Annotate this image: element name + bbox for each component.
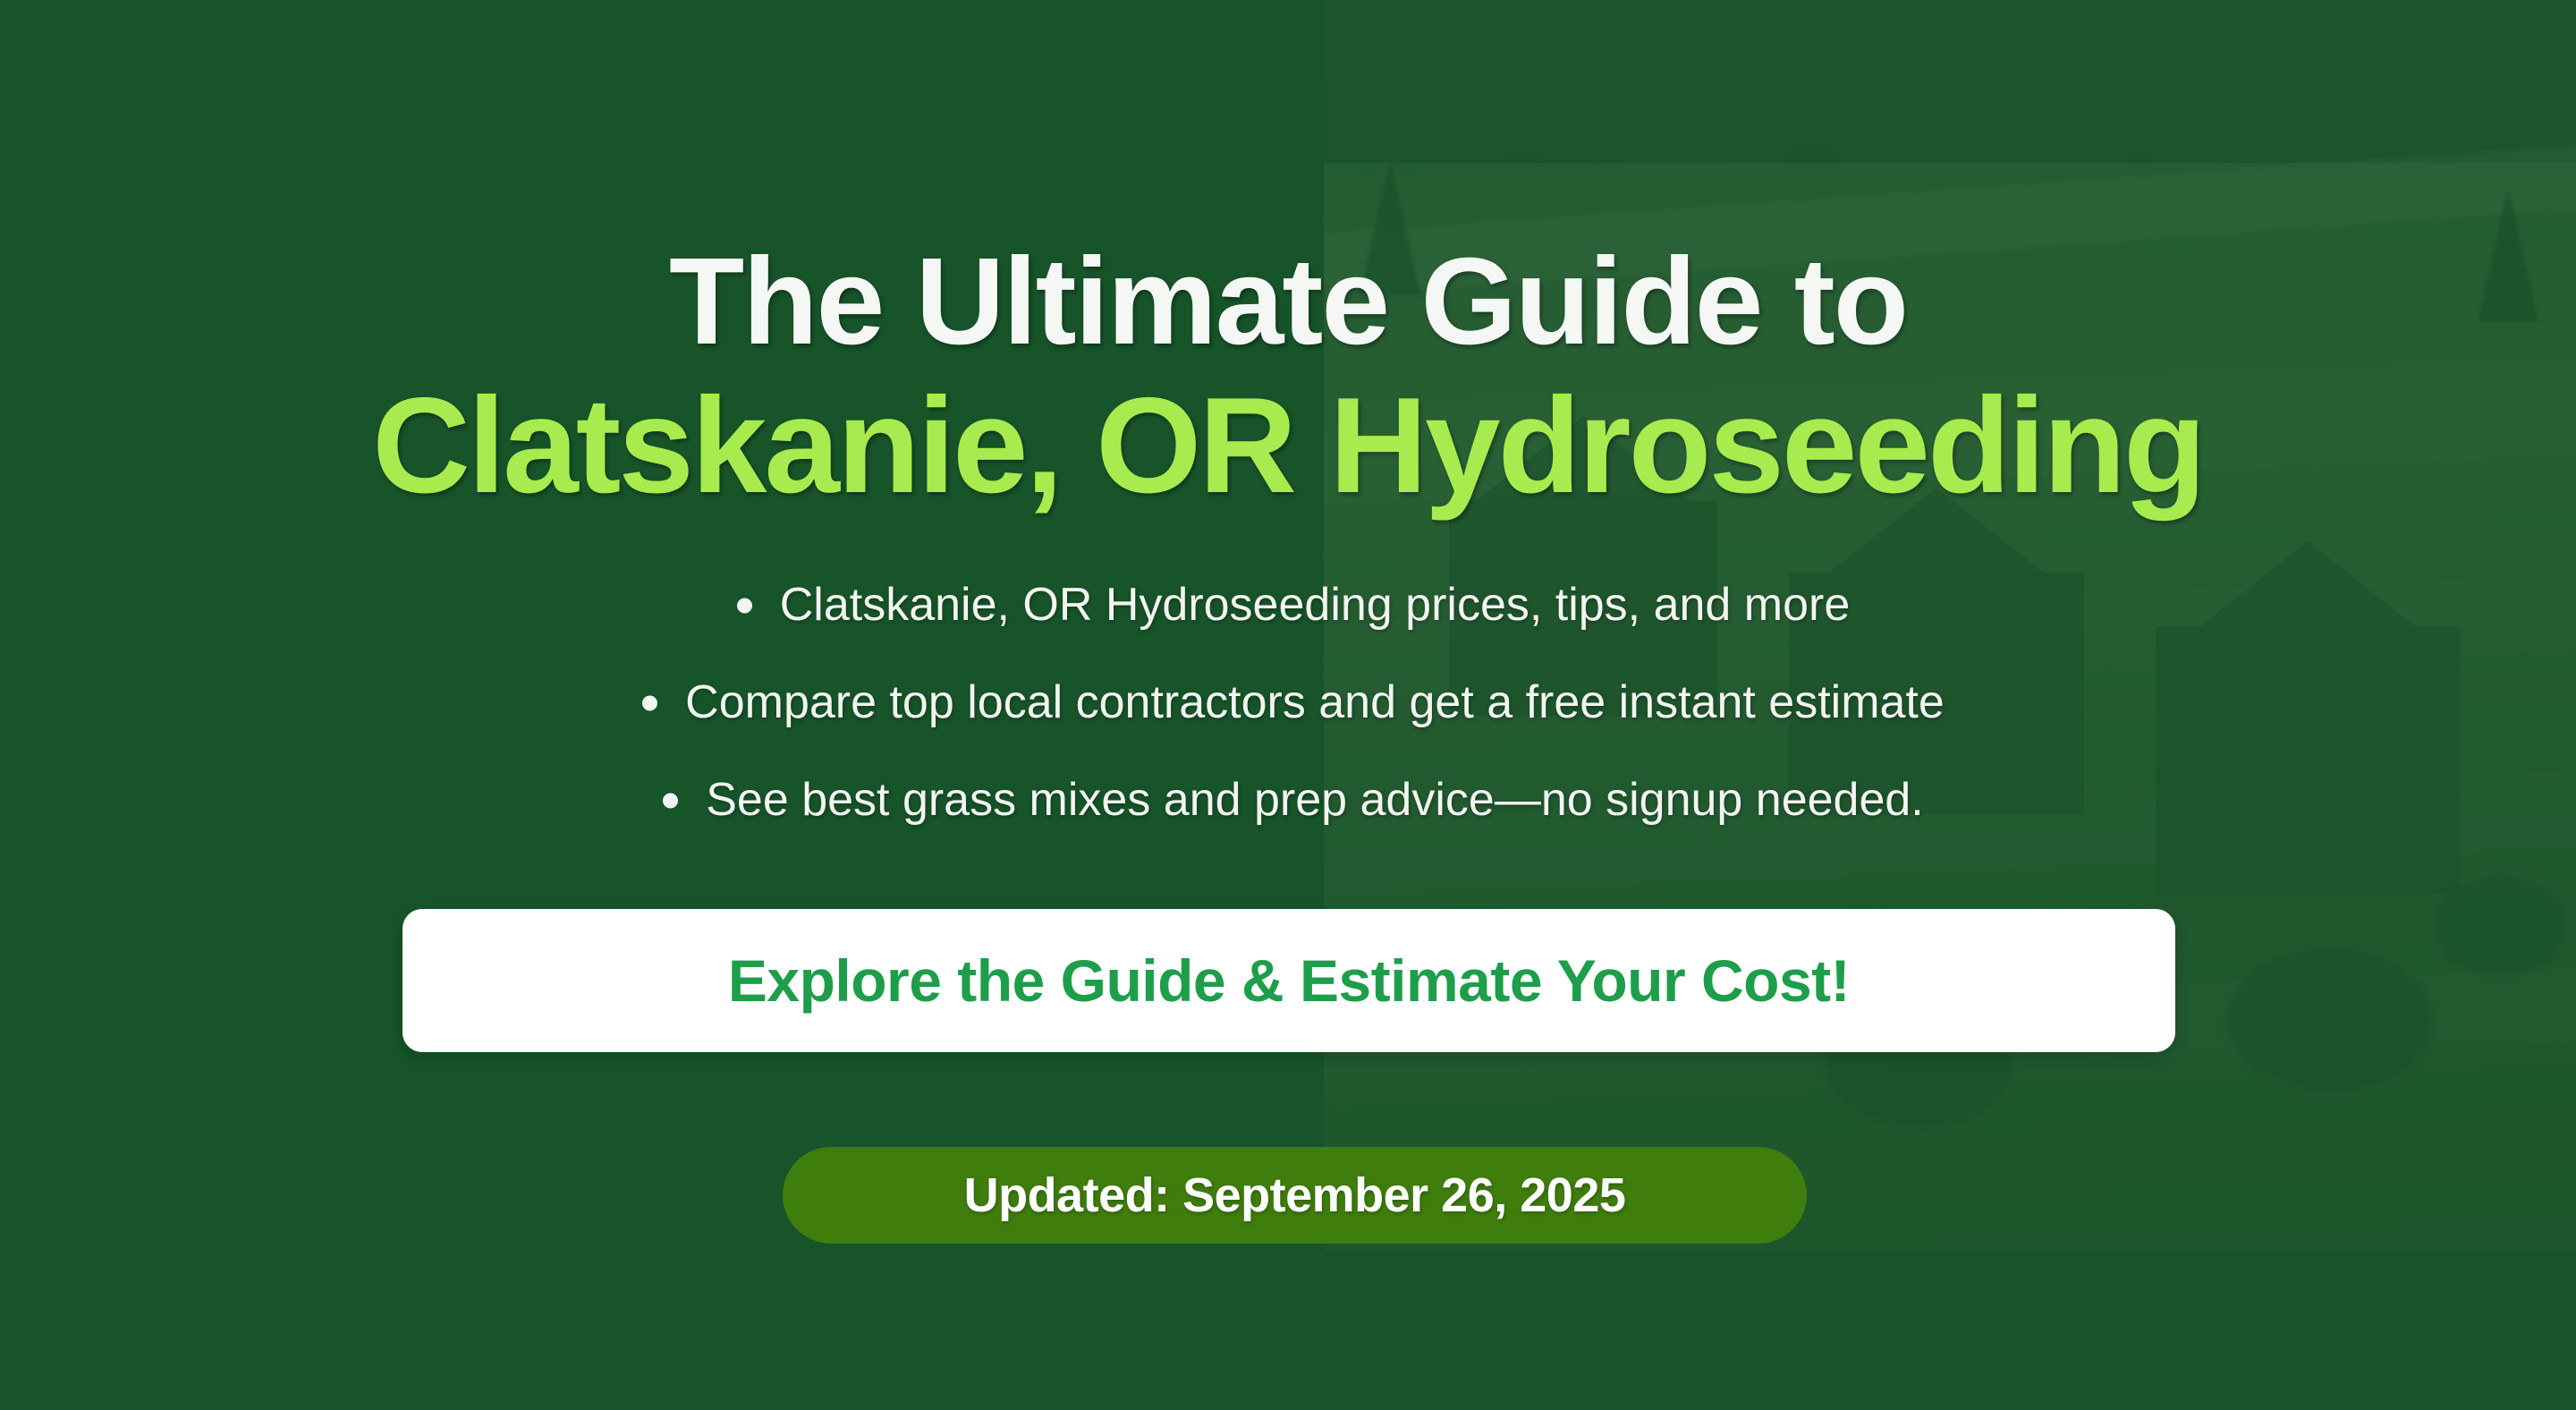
benefits-list: Clatskanie, OR Hydroseeding prices, tips… <box>0 580 2576 873</box>
page-title-line-2: Clatskanie, OR Hydroseeding <box>36 378 2540 514</box>
list-item-label: Clatskanie, OR Hydroseeding prices, tips… <box>726 580 1851 631</box>
list-item: See best grass mixes and prep advice—no … <box>0 775 2576 826</box>
list-item: Compare top local contractors and get a … <box>0 677 2576 728</box>
list-item-label: See best grass mixes and prep advice—no … <box>652 775 1924 826</box>
page-title-line-1: The Ultimate Guide to <box>669 233 1907 370</box>
updated-date-badge: Updated: September 26, 2025 <box>783 1147 1807 1244</box>
banner-content: The Ultimate Guide to Clatskanie, OR Hyd… <box>0 0 2576 1410</box>
list-item: Clatskanie, OR Hydroseeding prices, tips… <box>0 580 2576 631</box>
hero-banner: The Ultimate Guide to Clatskanie, OR Hyd… <box>0 0 2576 1410</box>
explore-guide-estimate-cost-button[interactable]: Explore the Guide & Estimate Your Cost! <box>402 909 2175 1052</box>
page-title: The Ultimate Guide to Clatskanie, OR Hyd… <box>0 240 2576 514</box>
list-item-label: Compare top local contractors and get a … <box>631 677 1945 728</box>
